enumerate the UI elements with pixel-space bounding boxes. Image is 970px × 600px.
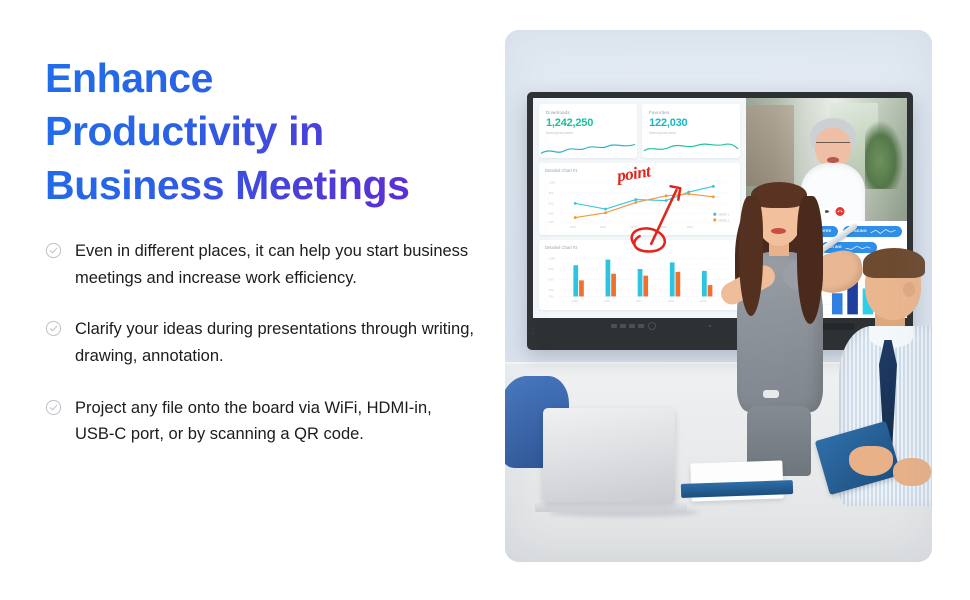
bar-chart: 1000800 600400200 20152 bbox=[545, 252, 734, 305]
kpi-subtext: lorem ipsum dolor bbox=[546, 131, 630, 135]
laptop-lid bbox=[543, 408, 675, 502]
plant bbox=[865, 120, 904, 189]
chart-title: Detailed Chart #1 bbox=[545, 168, 734, 173]
board-button[interactable] bbox=[629, 324, 635, 328]
presenter-person bbox=[723, 178, 835, 478]
hair bbox=[863, 248, 925, 278]
list-item-label: Clarify your ideas during presentations … bbox=[75, 316, 475, 369]
kpi-value: 122,030 bbox=[649, 117, 733, 129]
svg-text:2018: 2018 bbox=[660, 225, 667, 229]
laptop bbox=[543, 408, 675, 518]
list-item-label: Even in different places, it can help yo… bbox=[75, 238, 475, 291]
check-circle-icon bbox=[45, 242, 62, 259]
kpi-card-downloads: Downloads 1,242,250 lorem ipsum dolor bbox=[539, 104, 637, 158]
kpi-card-favorites: Favorites 122,030 lorem ipsum dolor bbox=[642, 104, 740, 158]
left-content-column: Enhance Productivity in Business Meeting… bbox=[45, 52, 485, 448]
list-item: Project any file onto the board via WiFi… bbox=[45, 395, 485, 448]
bar-chart-card: Detailed Chart #2 1000800 bbox=[539, 240, 740, 310]
board-button[interactable] bbox=[611, 324, 617, 328]
kpi-sparkline bbox=[642, 140, 740, 158]
svg-text:800: 800 bbox=[549, 191, 554, 195]
svg-text:2015: 2015 bbox=[570, 225, 577, 229]
list-item-label: Project any file onto the board via WiFi… bbox=[75, 395, 475, 448]
page-title: Enhance Productivity in Business Meeting… bbox=[45, 52, 485, 212]
wristwatch bbox=[763, 390, 779, 398]
hair-right bbox=[797, 196, 823, 324]
chart-title: Detailed Chart #2 bbox=[545, 245, 734, 250]
brick-wall bbox=[746, 105, 794, 186]
line-chart-card: Detailed Chart #1 1000800 bbox=[539, 163, 740, 235]
sparkline-icon bbox=[870, 228, 896, 235]
ear bbox=[903, 282, 915, 297]
hair-left bbox=[739, 196, 763, 316]
svg-text:600: 600 bbox=[549, 277, 554, 281]
board-buttons[interactable] bbox=[611, 324, 644, 328]
svg-text:2018: 2018 bbox=[668, 299, 675, 303]
kpi-subtext: lorem ipsum dolor bbox=[649, 131, 733, 135]
line-chart: 1000800 600400200 201520162017 20182019 bbox=[545, 175, 734, 230]
meeting-room-photo: Downloads 1,242,250 lorem ipsum dolor Fa… bbox=[505, 30, 932, 562]
kpi-label: Downloads bbox=[546, 110, 630, 115]
svg-text:600: 600 bbox=[549, 201, 554, 205]
svg-text:2016: 2016 bbox=[600, 225, 607, 229]
power-button[interactable] bbox=[648, 322, 656, 330]
hand bbox=[849, 446, 893, 476]
board-button[interactable] bbox=[638, 324, 644, 328]
svg-text:2019: 2019 bbox=[687, 225, 694, 229]
svg-text:1000: 1000 bbox=[549, 181, 556, 185]
ir-sensor bbox=[709, 325, 711, 327]
feature-list: Even in different places, it can help yo… bbox=[45, 238, 485, 448]
svg-text:2016: 2016 bbox=[604, 299, 611, 303]
kpi-sparkline bbox=[539, 140, 637, 158]
svg-text:1000: 1000 bbox=[549, 256, 556, 260]
list-item: Clarify your ideas during presentations … bbox=[45, 316, 485, 369]
svg-text:2017: 2017 bbox=[630, 225, 637, 229]
check-circle-icon bbox=[45, 399, 62, 416]
end-call-icon[interactable] bbox=[835, 207, 844, 216]
list-item: Even in different places, it can help yo… bbox=[45, 238, 485, 291]
hand bbox=[893, 458, 931, 486]
kpi-label: Favorites bbox=[649, 110, 733, 115]
colleague-person-right bbox=[843, 248, 932, 548]
lips bbox=[771, 228, 786, 234]
svg-text:200: 200 bbox=[549, 220, 554, 224]
svg-text:200: 200 bbox=[549, 294, 554, 298]
svg-text:2019: 2019 bbox=[700, 299, 707, 303]
check-circle-icon bbox=[45, 320, 62, 337]
glasses-icon bbox=[816, 142, 849, 150]
svg-text:800: 800 bbox=[549, 267, 554, 271]
svg-text:2015: 2015 bbox=[572, 299, 579, 303]
board-button[interactable] bbox=[620, 324, 626, 328]
dashboard-pane: Downloads 1,242,250 lorem ipsum dolor Fa… bbox=[533, 98, 746, 334]
kpi-card-row: Downloads 1,242,250 lorem ipsum dolor Fa… bbox=[539, 104, 740, 158]
promo-page: Enhance Productivity in Business Meeting… bbox=[0, 0, 970, 600]
svg-text:2017: 2017 bbox=[636, 299, 643, 303]
svg-text:400: 400 bbox=[549, 212, 554, 216]
svg-text:400: 400 bbox=[549, 288, 554, 292]
kpi-value: 1,242,250 bbox=[546, 117, 630, 129]
